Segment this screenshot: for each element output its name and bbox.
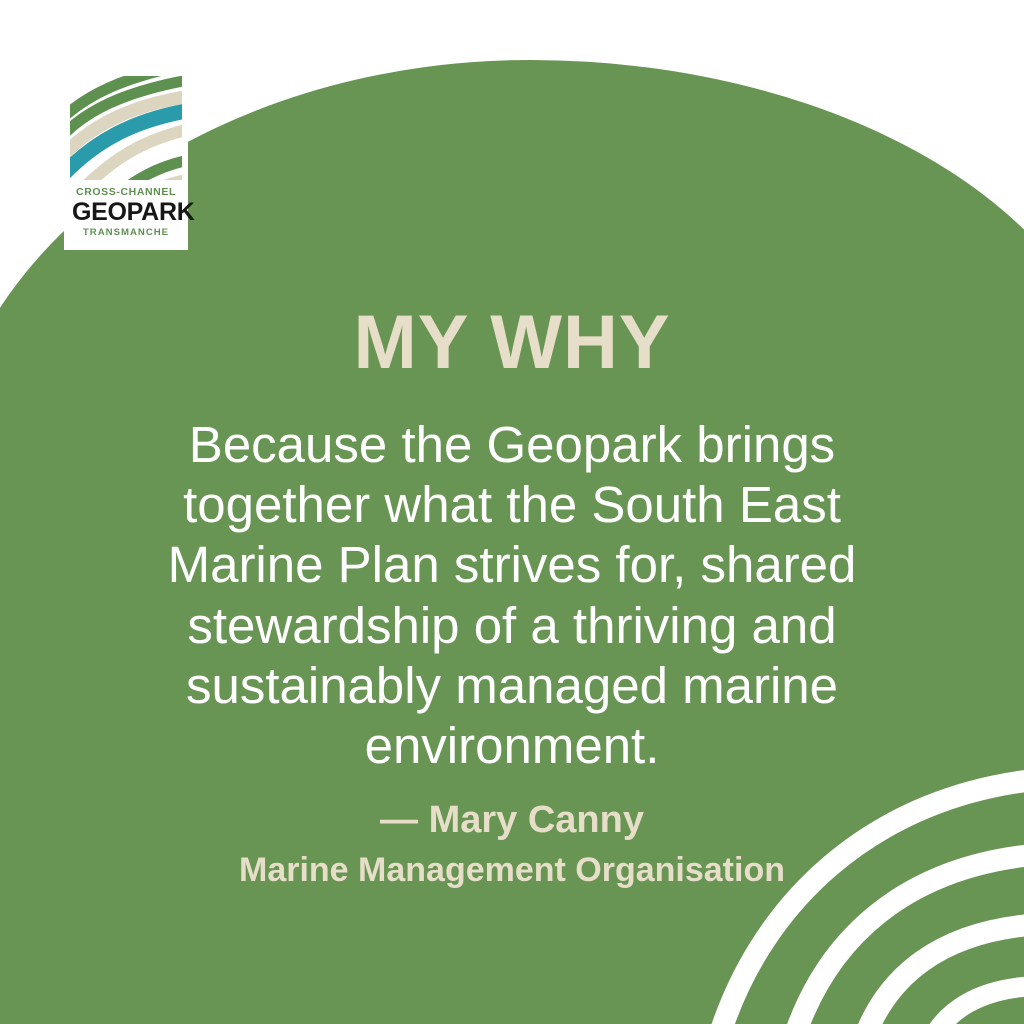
logo-wordmark: CROSS-CHANNEL GEOPARK TRANSMANCHE [72,187,180,237]
geopark-logo-mark-icon [70,76,182,180]
logo-line-cross-channel: CROSS-CHANNEL [72,187,180,198]
attribution-name: — Mary Canny [0,800,1024,842]
logo-line-geopark: GEOPARK [72,200,180,225]
page-title: MY WHY [0,305,1024,381]
geopark-logo-card: CROSS-CHANNEL GEOPARK TRANSMANCHE [64,62,188,250]
poster-canvas: CROSS-CHANNEL GEOPARK TRANSMANCHE MY WHY… [0,0,1024,1024]
logo-line-transmanche: TRANSMANCHE [72,228,180,238]
attribution-organisation: Marine Management Organisation [0,852,1024,889]
quote-text: Because the Geopark brings together what… [160,415,864,776]
